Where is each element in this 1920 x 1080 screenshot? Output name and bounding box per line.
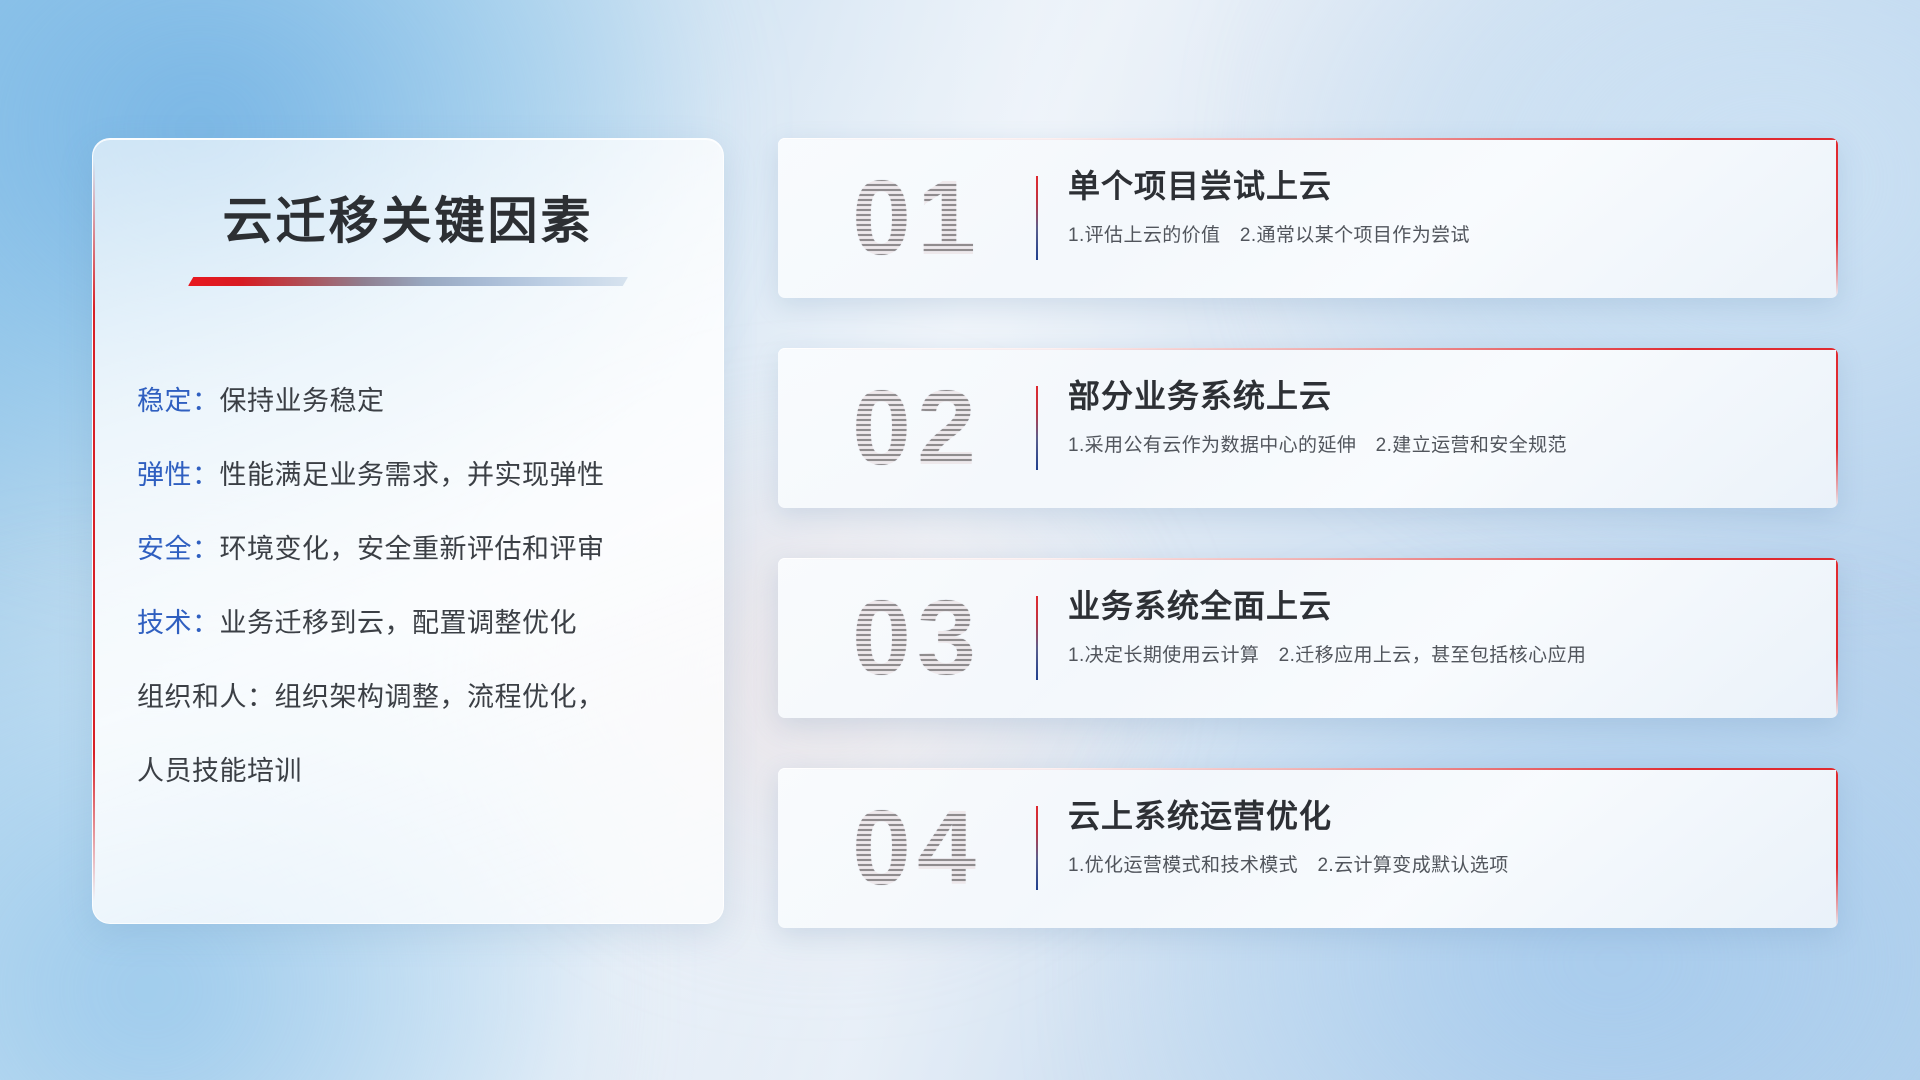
card-right-accent-line — [1836, 768, 1838, 928]
key-factor-item: 弹性：性能满足业务需求，并实现弹性 — [137, 438, 677, 512]
key-factor-label: 组织和人： — [137, 682, 275, 712]
stage-points: 1.决定长期使用云计算 2.迁移应用上云，甚至包括核心应用 — [1068, 642, 1804, 670]
slide-stage: 云迁移关键因素 稳定：保持业务稳定弹性：性能满足业务需求，并实现弹性安全：环境变… — [0, 0, 1920, 1080]
stage-points: 1.优化运营模式和技术模式 2.云计算变成默认选项 — [1068, 852, 1804, 880]
card-divider-line — [1036, 176, 1038, 260]
card-text-block: 云上系统运营优化1.优化运营模式和技术模式 2.云计算变成默认选项 — [1068, 794, 1804, 880]
stage-card[interactable]: 0202部分业务系统上云1.采用公有云作为数据中心的延伸 2.建立运营和安全规范 — [778, 348, 1838, 508]
page-title: 云迁移关键因素 — [93, 181, 723, 253]
card-right-accent-line — [1836, 138, 1838, 298]
key-factors-panel: 云迁移关键因素 稳定：保持业务稳定弹性：性能满足业务需求，并实现弹性安全：环境变… — [92, 138, 724, 924]
card-text-block: 部分业务系统上云1.采用公有云作为数据中心的延伸 2.建立运营和安全规范 — [1068, 374, 1804, 460]
key-factor-item: 安全：环境变化，安全重新评估和评审 — [137, 512, 677, 586]
stage-card[interactable]: 0404云上系统运营优化1.优化运营模式和技术模式 2.云计算变成默认选项 — [778, 768, 1838, 928]
card-right-accent-line — [1836, 348, 1838, 508]
stage-number: 03 — [802, 574, 1032, 702]
key-factor-text: 性能满足业务需求，并实现弹性 — [220, 460, 605, 490]
key-factor-text: 组织架构调整，流程优化， — [275, 682, 605, 712]
key-factor-text: 保持业务稳定 — [220, 386, 385, 416]
card-right-accent-line — [1836, 558, 1838, 718]
key-factor-label: 稳定： — [137, 386, 220, 416]
key-factor-label: 技术： — [137, 608, 220, 638]
card-text-block: 业务系统全面上云1.决定长期使用云计算 2.迁移应用上云，甚至包括核心应用 — [1068, 584, 1804, 670]
card-text-block: 单个项目尝试上云1.评估上云的价值 2.通常以某个项目作为尝试 — [1068, 164, 1804, 250]
key-factor-label: 弹性： — [137, 460, 220, 490]
card-top-accent-line — [778, 558, 1838, 560]
stage-number: 04 — [802, 784, 1032, 912]
key-factor-item: 组织和人：组织架构调整，流程优化， — [137, 660, 677, 734]
card-top-accent-line — [778, 138, 1838, 140]
key-factor-item: 人员技能培训 — [137, 734, 677, 808]
card-top-accent-line — [778, 768, 1838, 770]
stage-title: 业务系统全面上云 — [1068, 584, 1804, 628]
stage-title: 部分业务系统上云 — [1068, 374, 1804, 418]
key-factor-label: 安全： — [137, 534, 220, 564]
stage-card-list: 0101单个项目尝试上云1.评估上云的价值 2.通常以某个项目作为尝试0202部… — [778, 138, 1838, 928]
key-factor-text: 业务迁移到云，配置调整优化 — [220, 608, 578, 638]
key-factor-text: 环境变化，安全重新评估和评审 — [220, 534, 605, 564]
card-top-accent-line — [778, 348, 1838, 350]
stage-card[interactable]: 0101单个项目尝试上云1.评估上云的价值 2.通常以某个项目作为尝试 — [778, 138, 1838, 298]
key-factor-item: 技术：业务迁移到云，配置调整优化 — [137, 586, 677, 660]
stage-points: 1.评估上云的价值 2.通常以某个项目作为尝试 — [1068, 222, 1804, 250]
key-factors-list: 稳定：保持业务稳定弹性：性能满足业务需求，并实现弹性安全：环境变化，安全重新评估… — [93, 364, 723, 808]
key-factor-item: 稳定：保持业务稳定 — [137, 364, 677, 438]
key-factor-text: 人员技能培训 — [137, 756, 302, 786]
stage-number: 02 — [802, 364, 1032, 492]
stage-title: 云上系统运营优化 — [1068, 794, 1804, 838]
card-divider-line — [1036, 596, 1038, 680]
stage-card[interactable]: 0303业务系统全面上云1.决定长期使用云计算 2.迁移应用上云，甚至包括核心应… — [778, 558, 1838, 718]
card-divider-line — [1036, 386, 1038, 470]
stage-points: 1.采用公有云作为数据中心的延伸 2.建立运营和安全规范 — [1068, 432, 1804, 460]
stage-number: 01 — [802, 154, 1032, 282]
card-divider-line — [1036, 806, 1038, 890]
title-underline-gradient — [188, 277, 628, 286]
stage-title: 单个项目尝试上云 — [1068, 164, 1804, 208]
